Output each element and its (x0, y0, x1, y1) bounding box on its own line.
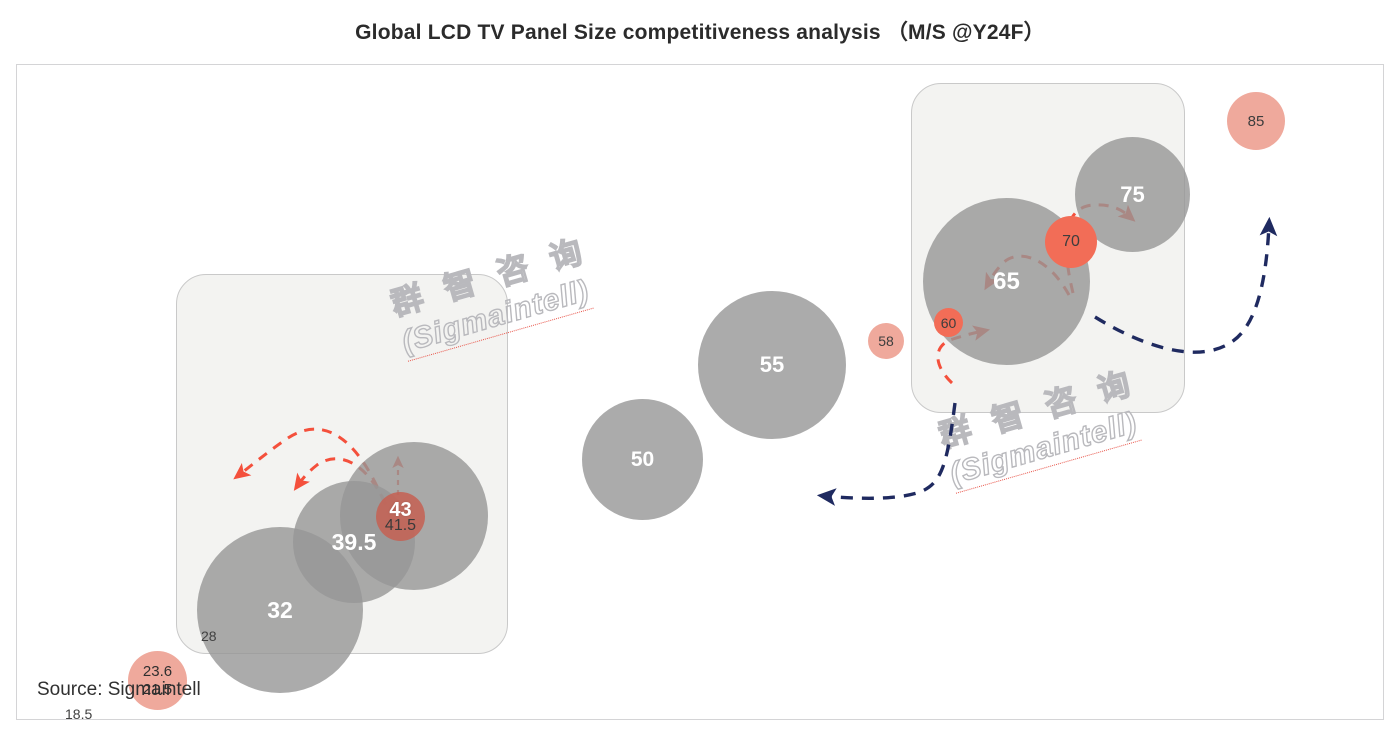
bubble-label: 58 (878, 334, 894, 348)
bubble-label: 60 (941, 316, 957, 330)
bubble-label: 85 (1248, 114, 1265, 129)
bubble-label-23-6: 23.6 (143, 663, 172, 681)
bubble-label: 75 (1120, 184, 1144, 206)
arrow-navy-60-to-55 (825, 403, 955, 498)
bubble-58[interactable]: 58 (868, 323, 904, 359)
watermark-english-text: (Sigmaintell) (946, 406, 1141, 494)
bubble-85[interactable]: 85 (1227, 92, 1285, 150)
bubble-label-41-5: 41.5 (385, 518, 416, 534)
chart-canvas: 群 智 咨 询 (Sigmaintell) 群 智 咨 询 (Sigmainte… (17, 65, 1383, 719)
bubble-label: 39.5 (332, 531, 377, 554)
bubble-60[interactable]: 60 (934, 308, 963, 337)
chart-frame: 群 智 咨 询 (Sigmaintell) 群 智 咨 询 (Sigmainte… (16, 64, 1384, 720)
bubble-label: 70 (1062, 234, 1080, 250)
source-note: Source: Sigmaintell (37, 679, 201, 701)
bubble-70[interactable]: 70 (1045, 216, 1097, 268)
bubble-label: 65 (993, 270, 1020, 294)
bubble-label: 55 (760, 354, 784, 376)
bubble-55[interactable]: 55 (698, 291, 846, 439)
bubble-41-5[interactable]: 43 41.5 (376, 492, 425, 541)
bubble-label: 32 (267, 599, 293, 622)
label-28: 28 (201, 628, 217, 644)
bubble-label: 50 (631, 449, 654, 470)
label-18-5: 18.5 (65, 706, 92, 720)
page-title: Global LCD TV Panel Size competitiveness… (0, 0, 1400, 62)
bubble-50[interactable]: 50 (582, 399, 703, 520)
